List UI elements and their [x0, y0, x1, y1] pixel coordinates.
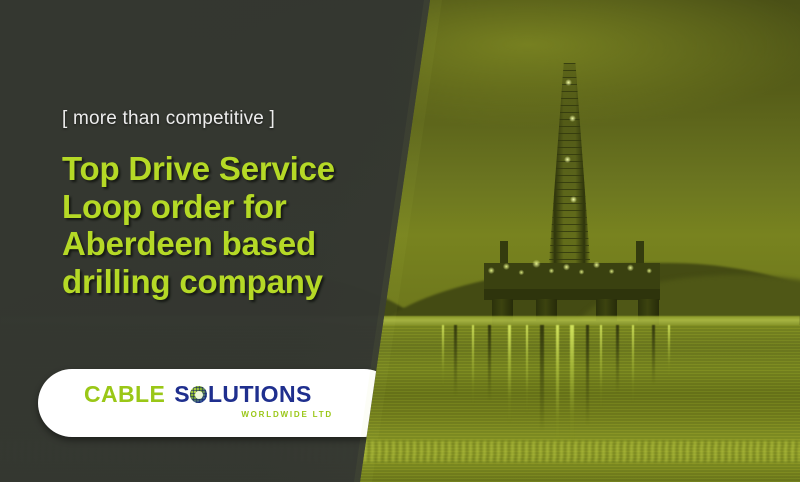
reflection-streak [472, 325, 474, 406]
reflection-streak [652, 325, 655, 384]
logo-pill[interactable]: CABLE S LUTIONS WORLDWIDE LTD [38, 369, 398, 437]
derrick-tower [549, 63, 591, 265]
headline-line-4: drilling company [62, 263, 335, 301]
derrick-light [569, 115, 576, 122]
logo-word-solutions-a: S [174, 383, 190, 406]
reflection-streak [668, 325, 670, 376]
reflection-streak [454, 325, 457, 395]
reflection-streak [586, 325, 589, 425]
logo-word-cable: CABLE [84, 383, 165, 406]
logo-word-solutions-b: LUTIONS [208, 383, 312, 406]
globe-icon [190, 386, 207, 403]
reflection-streak [540, 325, 544, 430]
promo-banner: [ more than competitive ] Top Drive Serv… [0, 0, 800, 482]
reflection-streak [616, 325, 619, 392]
headline-line-2: Loop order for [62, 188, 335, 226]
logo-wordmark: CABLE S LUTIONS [84, 383, 334, 406]
derrick-light [564, 156, 571, 163]
deck-lights [480, 253, 668, 280]
reflection-streak [526, 325, 528, 414]
eyebrow-tagline: [ more than competitive ] [62, 108, 275, 130]
reflection-streak [442, 325, 444, 387]
headline-line-3: Aberdeen based [62, 225, 335, 263]
reflection-streak [508, 325, 511, 422]
reflection-streak [488, 325, 491, 401]
derrick-lattice [549, 63, 591, 265]
reflection-streak [632, 325, 634, 403]
logo-tagline: WORLDWIDE LTD [84, 410, 334, 419]
reflection-streak [570, 325, 574, 444]
reflection-streak [600, 325, 602, 409]
headline-line-1: Top Drive Service [62, 150, 335, 188]
company-logo[interactable]: CABLE S LUTIONS WORLDWIDE LTD [84, 383, 334, 425]
page-title: Top Drive Service Loop order for Aberdee… [62, 150, 335, 300]
reflection-streak [556, 325, 559, 449]
